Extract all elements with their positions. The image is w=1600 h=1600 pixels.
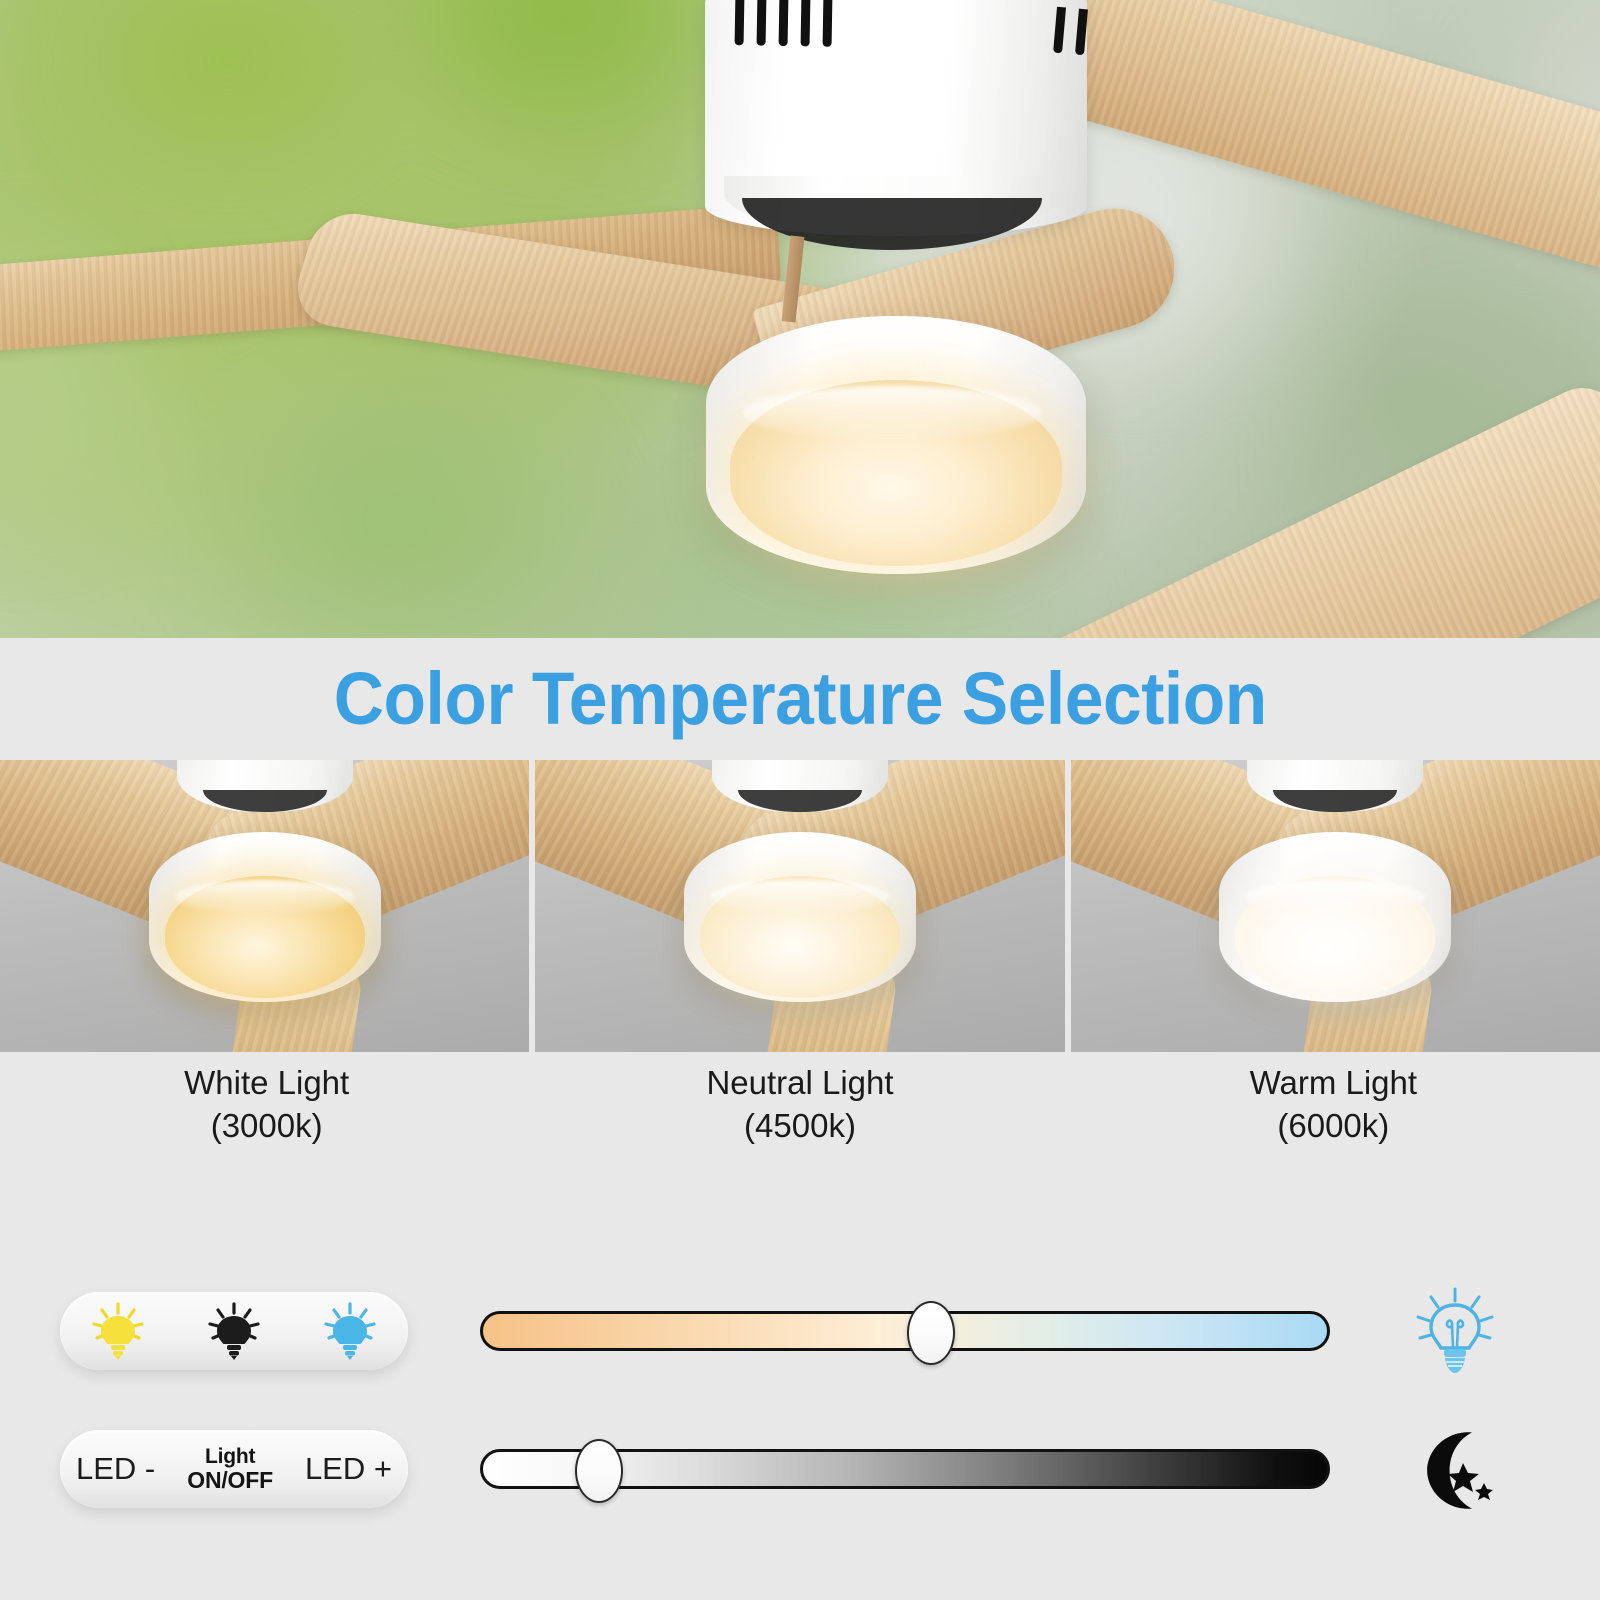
light-on-off-button[interactable]: Light ON/OFF — [187, 1446, 273, 1492]
panel-neutral-light[interactable] — [535, 760, 1064, 1052]
page-title: Color Temperature Selection — [333, 662, 1266, 736]
remote-led-buttons[interactable]: LED - Light ON/OFF LED + — [60, 1430, 408, 1508]
caption-title: Neutral Light — [706, 1064, 893, 1101]
panel-warm-light[interactable] — [1071, 760, 1600, 1052]
color-temperature-panels — [0, 760, 1600, 1052]
motor-vent-slots-right — [1053, 7, 1088, 56]
control-row-color-temperature — [0, 1266, 1600, 1396]
panel-light-fixture — [1219, 832, 1451, 1002]
color-temperature-slider-track[interactable] — [480, 1311, 1330, 1351]
light-on-off-label-line1: Light — [205, 1445, 255, 1468]
caption-kelvin: (6000k) — [1067, 1105, 1600, 1148]
remote-bulb-buttons[interactable] — [60, 1292, 408, 1370]
moon-star-icon — [1400, 1414, 1510, 1524]
caption-neutral-light: Neutral Light (4500k) — [533, 1062, 1066, 1148]
infographic-page: Color Temperature Selection — [0, 0, 1600, 1600]
light-on-off-label-line2: ON/OFF — [187, 1468, 273, 1492]
panel-light-fixture — [149, 832, 381, 1002]
caption-kelvin: (4500k) — [533, 1105, 1066, 1148]
hero-product-image — [0, 0, 1600, 638]
brightness-slider[interactable] — [480, 1441, 1330, 1497]
hero-light-fixture — [706, 316, 1086, 574]
caption-title: Warm Light — [1250, 1064, 1417, 1101]
motor-vent-slots-left — [735, 0, 833, 47]
caption-kelvin: (3000k) — [0, 1105, 533, 1148]
color-temperature-slider-knob[interactable] — [907, 1301, 955, 1365]
lightbulb-icon — [1400, 1276, 1510, 1386]
control-row-brightness: LED - Light ON/OFF LED + — [0, 1404, 1600, 1534]
panel-captions: White Light (3000k) Neutral Light (4500k… — [0, 1062, 1600, 1148]
brightness-slider-knob[interactable] — [575, 1439, 623, 1503]
panel-white-light[interactable] — [0, 760, 529, 1052]
title-band: Color Temperature Selection — [0, 638, 1600, 760]
caption-warm-light: Warm Light (6000k) — [1067, 1062, 1600, 1148]
panel-light-fixture — [684, 832, 916, 1002]
color-temperature-slider[interactable] — [480, 1303, 1330, 1359]
cool-bulb-button[interactable] — [318, 1300, 382, 1362]
controls-section: LED - Light ON/OFF LED + — [0, 1236, 1600, 1566]
led-plus-button[interactable]: LED + — [305, 1451, 392, 1487]
neutral-bulb-button[interactable] — [202, 1300, 266, 1362]
caption-title: White Light — [184, 1064, 349, 1101]
warm-bulb-button[interactable] — [86, 1300, 150, 1362]
caption-white-light: White Light (3000k) — [0, 1062, 533, 1148]
led-minus-button[interactable]: LED - — [76, 1451, 155, 1487]
